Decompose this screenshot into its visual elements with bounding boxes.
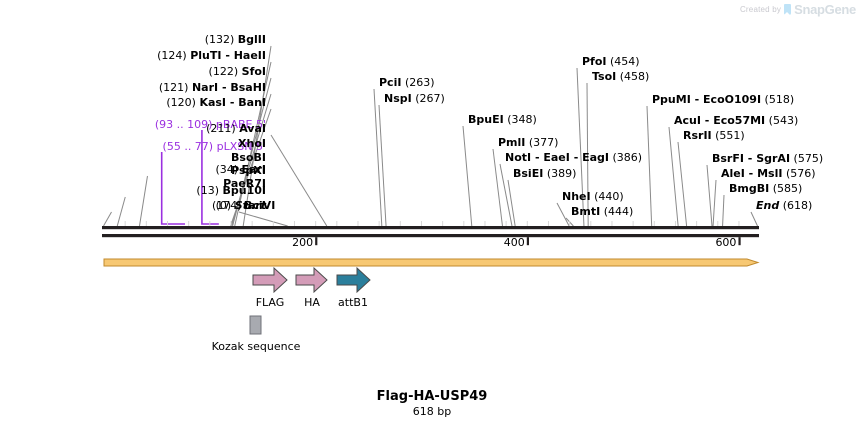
ruler-minor-tick bbox=[696, 221, 697, 226]
page-title: Flag-HA-USP49 bbox=[0, 389, 864, 404]
enzyme-label-end: End (618) bbox=[756, 200, 812, 212]
ruler-major-tick bbox=[738, 237, 740, 245]
feature-label-flag: FLAG bbox=[256, 296, 285, 309]
leader-line-start bbox=[104, 212, 112, 226]
enzyme-label-sfoi: (122) SfoI bbox=[0, 66, 266, 78]
features-group bbox=[253, 268, 370, 292]
ruler-tick-label: 400 bbox=[504, 236, 525, 249]
enzyme-label-rsrii: RsrII (551) bbox=[683, 130, 745, 142]
ruler-minor-tick bbox=[209, 221, 210, 226]
backbone-strand-top bbox=[102, 226, 759, 229]
enzyme-label-nhei: NheI (440) bbox=[562, 191, 624, 203]
ruler-minor-tick bbox=[294, 221, 295, 226]
enzyme-label-bmti: BmtI (444) bbox=[571, 206, 633, 218]
ruler-minor-tick bbox=[717, 221, 718, 226]
leader-line-avai bbox=[271, 135, 327, 226]
leader-line-bpuei bbox=[463, 126, 472, 226]
ruler-minor-tick bbox=[611, 221, 612, 226]
enzyme-label-pluti: (124) PluTI - HaeII bbox=[0, 50, 266, 62]
enzyme-label-tsoi: TsoI (458) bbox=[592, 71, 649, 83]
enzyme-label-bsrfi: BsrFI - SgrAI (575) bbox=[712, 153, 823, 165]
ruler-minor-tick bbox=[230, 221, 231, 226]
ruler-minor-tick bbox=[590, 221, 591, 226]
enzyme-label-pcii: PciI (263) bbox=[379, 77, 435, 89]
leader-line-bsrfi bbox=[707, 165, 712, 226]
ruler-minor-tick bbox=[125, 221, 126, 226]
ruler-minor-tick bbox=[738, 221, 739, 226]
leader-line-bmgbi bbox=[723, 195, 724, 226]
feature-label-ha: HA bbox=[304, 296, 320, 309]
enzyme-label-bcivi: BciVI bbox=[244, 200, 275, 212]
ruler-minor-tick bbox=[252, 221, 253, 226]
feature-arrow-flag bbox=[253, 268, 287, 292]
ruler-minor-tick bbox=[315, 221, 316, 226]
enzyme-label-bsobi: BsoBI bbox=[0, 152, 266, 164]
enzyme-label-nari: (121) NarI - BsaHI bbox=[0, 82, 266, 94]
ruler-minor-tick bbox=[463, 221, 464, 226]
enzyme-label-bglii: (132) BglII bbox=[0, 34, 266, 46]
enzyme-label-acui: AcuI - Eco57MI (543) bbox=[674, 115, 798, 127]
leader-line-bcivi bbox=[239, 212, 288, 226]
feature-arrow-attb1 bbox=[337, 268, 370, 292]
ruler-tick-label: 600 bbox=[715, 236, 736, 249]
orf-arrow-group bbox=[104, 259, 758, 266]
ruler-minor-tick bbox=[400, 221, 401, 226]
enzyme-label-pspxi: PspXI bbox=[0, 165, 266, 177]
leader-line-pcii bbox=[374, 89, 382, 226]
ruler-minor-tick bbox=[633, 221, 634, 226]
enzyme-label-bsiei: BsiEI (389) bbox=[513, 168, 576, 180]
misc-features-group bbox=[250, 316, 261, 334]
construct-length-label: 618 bp bbox=[0, 405, 864, 418]
ruler-tick-label: 200 bbox=[292, 236, 313, 249]
enzyme-label-noti: NotI - EaeI - EagI (386) bbox=[505, 152, 642, 164]
enzyme-label-ppumi: PpuMI - EcoO109I (518) bbox=[652, 94, 794, 106]
ruler-minor-tick bbox=[569, 221, 570, 226]
ruler-minor-tick bbox=[379, 221, 380, 226]
enzyme-label-xhoi: XhoI bbox=[0, 138, 266, 150]
leader-line-ppumi bbox=[647, 106, 652, 226]
ruler-major-tick bbox=[315, 237, 317, 245]
leader-line-end bbox=[751, 212, 758, 226]
ruler-minor-tick bbox=[442, 221, 443, 226]
leader-line-pmli bbox=[493, 149, 502, 226]
leader-line-nspi bbox=[379, 105, 386, 226]
enzyme-label-alei: AleI - MslI (576) bbox=[721, 168, 816, 180]
ruler-minor-tick bbox=[336, 221, 337, 226]
ruler-minor-tick bbox=[675, 221, 676, 226]
feature-arrow-ha bbox=[296, 268, 327, 292]
kozak-sequence-label: Kozak sequence bbox=[212, 340, 301, 353]
enzyme-label-avai: (211) AvaI bbox=[0, 123, 266, 135]
ruler-minor-tick bbox=[273, 221, 274, 226]
leader-line-acui bbox=[669, 127, 678, 226]
backbone-strand-bottom bbox=[102, 234, 759, 237]
ruler-minor-tick bbox=[654, 221, 655, 226]
leader-line-bsiei bbox=[508, 180, 515, 226]
leader-line-alei bbox=[713, 180, 716, 226]
enzyme-label-nspi: NspI (267) bbox=[384, 93, 445, 105]
ruler-major-tick bbox=[527, 237, 529, 245]
feature-label-attb1: attB1 bbox=[338, 296, 368, 309]
enzyme-label-bpuei: BpuEI (348) bbox=[468, 114, 537, 126]
enzyme-label-pfoi: PfoI (454) bbox=[582, 56, 640, 68]
leader-line-nhei bbox=[557, 203, 569, 226]
ruler-minor-tick bbox=[527, 221, 528, 226]
ruler-minor-tick bbox=[146, 221, 147, 226]
ruler-minor-tick bbox=[421, 221, 422, 226]
orf-arrow bbox=[104, 259, 758, 266]
enzyme-label-bcivipos: (174) bbox=[212, 200, 242, 212]
ruler-minor-tick bbox=[548, 221, 549, 226]
plasmid-linear-map bbox=[0, 0, 864, 428]
ruler-minor-tick bbox=[506, 221, 507, 226]
kozak-sequence-box bbox=[250, 316, 261, 334]
enzyme-label-kasi: (120) KasI - BanI bbox=[0, 97, 266, 109]
sequence-backbone-group bbox=[102, 226, 759, 237]
ruler-minor-tick bbox=[357, 221, 358, 226]
ruler-minor-tick bbox=[188, 221, 189, 226]
ruler-minor-tick bbox=[484, 221, 485, 226]
enzyme-label-bmgbi: BmgBI (585) bbox=[729, 183, 802, 195]
leader-line-rsrii bbox=[678, 142, 687, 226]
ruler-minor-tick bbox=[167, 221, 168, 226]
enzyme-label-paer7i: PaeR7I bbox=[0, 178, 266, 190]
enzyme-label-pmli: PmlI (377) bbox=[498, 137, 558, 149]
